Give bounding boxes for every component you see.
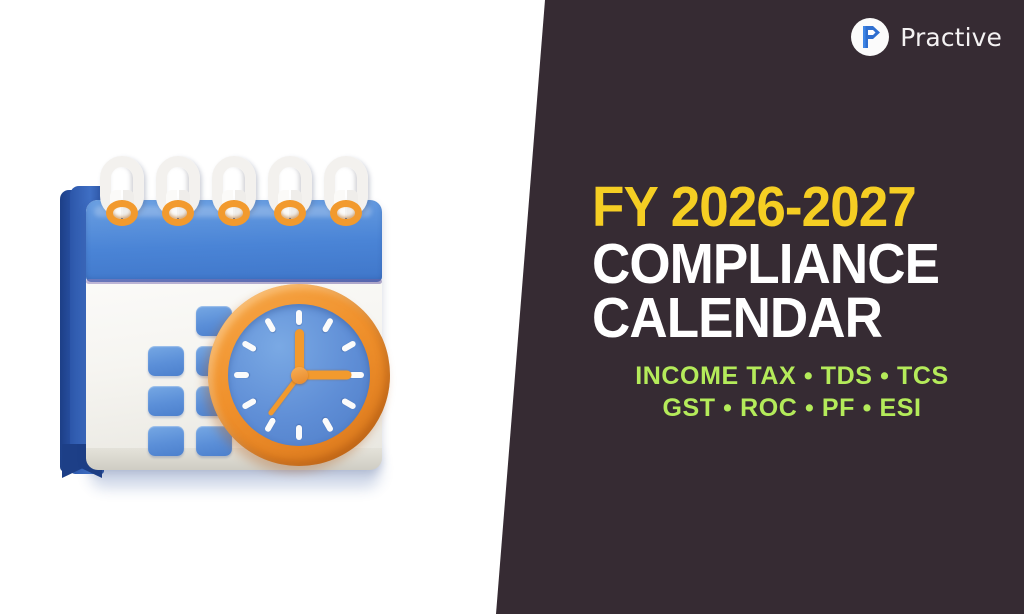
calendar-spiral-ring-3 — [212, 156, 256, 222]
title-line-compliance: COMPLIANCE — [592, 238, 964, 292]
calendar-spiral-ring-1 — [100, 156, 144, 222]
clock-tick — [241, 397, 257, 410]
clock-tick — [264, 417, 277, 433]
clock-tick — [234, 372, 249, 378]
clock-tick — [341, 340, 357, 353]
analog-clock — [208, 284, 390, 466]
calendar-day-cell — [148, 346, 184, 376]
practive-p-logo-icon — [851, 18, 889, 56]
clock-tick — [321, 317, 334, 333]
headline-block: FY 2026-2027 COMPLIANCE CALENDAR — [592, 181, 992, 346]
calendar-day-cell — [148, 426, 184, 456]
clock-face — [228, 304, 370, 446]
spiral-grommet-icon — [330, 200, 362, 226]
clock-tick — [296, 425, 302, 440]
spiral-grommet-icon — [274, 200, 306, 226]
fiscal-year-heading: FY 2026-2027 — [592, 181, 964, 235]
subheading-line-1: INCOME TAX • TDS • TCS — [592, 360, 992, 392]
brand-name: Practive — [900, 23, 1002, 52]
subheading-block: INCOME TAX • TDS • TCS GST • ROC • PF • … — [592, 360, 992, 424]
spiral-grommet-icon — [106, 200, 138, 226]
calendar-day-cell — [148, 386, 184, 416]
clock-tick — [296, 310, 302, 325]
calendar-spiral-ring-2 — [156, 156, 200, 222]
calendar-spiral-ring-5 — [324, 156, 368, 222]
subheading-line-2: GST • ROC • PF • ESI — [592, 392, 992, 424]
clock-tick — [341, 397, 357, 410]
title-line-calendar: CALENDAR — [592, 292, 964, 346]
calendar-spiral-ring-4 — [268, 156, 312, 222]
brand-logo[interactable]: Practive — [851, 18, 1002, 56]
spiral-grommet-icon — [218, 200, 250, 226]
clock-tick — [321, 417, 334, 433]
calendar-clock-illustration — [48, 148, 418, 498]
compliance-calendar-banner: Practive FY 2026-2027 COMPLIANCE CALENDA… — [0, 0, 1024, 614]
spiral-grommet-icon — [162, 200, 194, 226]
clock-tick — [241, 340, 257, 353]
clock-center-cap — [291, 367, 308, 384]
clock-tick — [264, 317, 277, 333]
